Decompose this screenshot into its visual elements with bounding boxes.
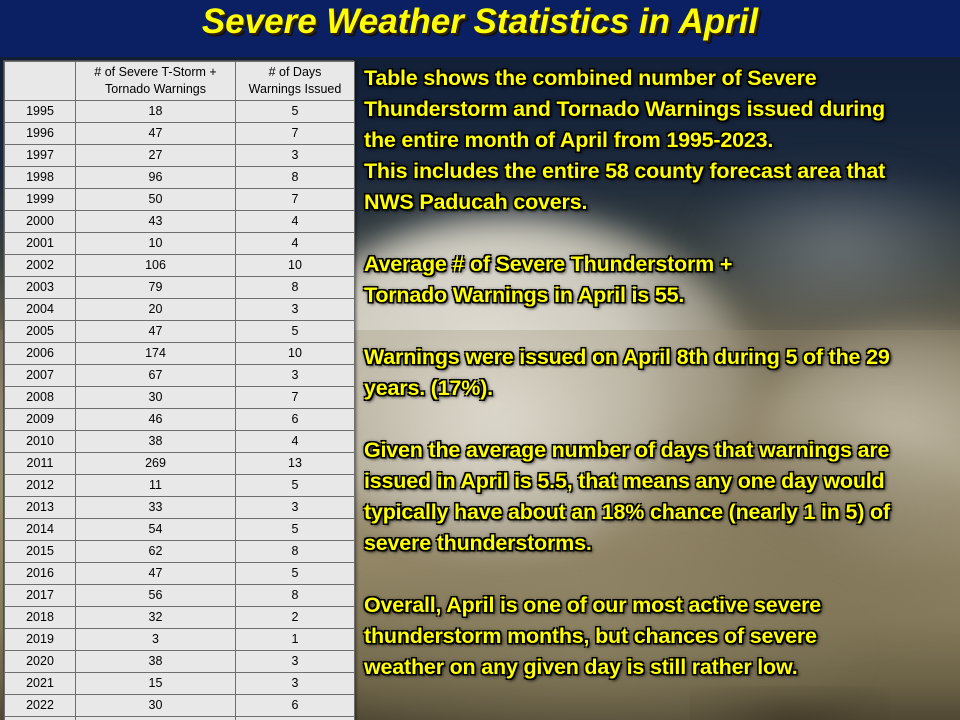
note-paragraph-1-line-1: Table shows the combined number of Sever… [364, 63, 958, 94]
cell-days-issued: 5 [236, 321, 355, 343]
table-row: 1999507 [5, 189, 355, 211]
severe-weather-statistics-table: # of Severe T-Storm + Tornado Warnings #… [4, 61, 355, 720]
cell-days-issued: 3 [236, 365, 355, 387]
cell-days-issued: 5 [236, 475, 355, 497]
cell-warnings-count: 67 [76, 365, 236, 387]
statistics-table-container: # of Severe T-Storm + Tornado Warnings #… [3, 60, 354, 720]
cell-warnings-count: 15 [76, 673, 236, 695]
note-paragraph-1-line-5: NWS Paducah covers. [364, 187, 958, 218]
cell-year: 2020 [5, 651, 76, 673]
cell-days-issued: 3 [236, 651, 355, 673]
header-warnings-line1: # of Severe T-Storm + [94, 65, 216, 79]
cell-year: 2014 [5, 519, 76, 541]
cell-year: 1995 [5, 101, 76, 123]
cell-days-issued: 8 [236, 277, 355, 299]
cell-days-issued: 3 [236, 497, 355, 519]
cell-days-issued: 10 [236, 255, 355, 277]
cell-warnings-count: 43 [76, 211, 236, 233]
cell-year: 2018 [5, 607, 76, 629]
page-title: Severe Weather Statistics in April [0, 2, 960, 42]
table-row: 2018322 [5, 607, 355, 629]
spacer-4 [364, 559, 958, 590]
cell-year: 2013 [5, 497, 76, 519]
cell-year: 2003 [5, 277, 76, 299]
cell-warnings-count: 10 [76, 233, 236, 255]
table-row: 1997273 [5, 145, 355, 167]
cell-year: 2012 [5, 475, 76, 497]
note-paragraph-1-line-4: This includes the entire 58 county forec… [364, 156, 958, 187]
cell-warnings-count: 79 [76, 277, 236, 299]
cell-warnings-count: 47 [76, 123, 236, 145]
table-header: # of Severe T-Storm + Tornado Warnings #… [5, 62, 355, 101]
table-row: 2005475 [5, 321, 355, 343]
cell-days-issued: 13 [236, 453, 355, 475]
cell-warnings-count: 20 [76, 299, 236, 321]
table-row: 2010384 [5, 431, 355, 453]
cell-year: 2011 [5, 453, 76, 475]
cell-days-issued: 7 [236, 387, 355, 409]
cell-days-issued: 3 [236, 299, 355, 321]
cell-year: 2001 [5, 233, 76, 255]
note-paragraph-3-line-2: years. (17%). [364, 373, 958, 404]
cell-warnings-count: 30 [76, 387, 236, 409]
notes-text-block: Table shows the combined number of Sever… [364, 63, 958, 683]
table-row: 201931 [5, 629, 355, 651]
cell-year: 2006 [5, 343, 76, 365]
cell-days-issued: 8 [236, 167, 355, 189]
table-row: 2020383 [5, 651, 355, 673]
table-row: 2014545 [5, 519, 355, 541]
cell-warnings-count: 269 [76, 453, 236, 475]
cell-year: 1998 [5, 167, 76, 189]
header-days-line2: Warnings Issued [249, 82, 342, 96]
cell-days-issued: 3 [236, 145, 355, 167]
cell-year: 2010 [5, 431, 76, 453]
cell-days-issued: 4 [236, 431, 355, 453]
table-row: 201126913 [5, 453, 355, 475]
table-row: 2023403 [5, 717, 355, 720]
cell-warnings-count: 106 [76, 255, 236, 277]
table-row: 2016475 [5, 563, 355, 585]
table-row: 2021153 [5, 673, 355, 695]
cell-year: 2021 [5, 673, 76, 695]
cell-warnings-count: 56 [76, 585, 236, 607]
cell-warnings-count: 40 [76, 717, 236, 720]
header-warnings-line2: Tornado Warnings [105, 82, 206, 96]
cell-days-issued: 1 [236, 629, 355, 651]
table-row: 2000434 [5, 211, 355, 233]
cell-warnings-count: 62 [76, 541, 236, 563]
cell-year: 2022 [5, 695, 76, 717]
cell-days-issued: 3 [236, 673, 355, 695]
spacer-3 [364, 404, 958, 435]
cell-year: 2019 [5, 629, 76, 651]
table-row: 2003798 [5, 277, 355, 299]
cell-days-issued: 5 [236, 519, 355, 541]
cell-days-issued: 6 [236, 409, 355, 431]
header-days-issued: # of Days Warnings Issued [236, 62, 355, 101]
table-row: 2017568 [5, 585, 355, 607]
cell-year: 2005 [5, 321, 76, 343]
cell-warnings-count: 96 [76, 167, 236, 189]
cell-year: 2016 [5, 563, 76, 585]
cell-days-issued: 4 [236, 211, 355, 233]
cell-warnings-count: 47 [76, 563, 236, 585]
note-paragraph-2-line-1: Average # of Severe Thunderstorm + [364, 249, 958, 280]
cell-days-issued: 4 [236, 233, 355, 255]
cell-warnings-count: 30 [76, 695, 236, 717]
note-paragraph-4-line-3: typically have about an 18% chance (near… [364, 497, 958, 528]
cell-warnings-count: 18 [76, 101, 236, 123]
cell-days-issued: 2 [236, 607, 355, 629]
cell-days-issued: 8 [236, 585, 355, 607]
table-row: 2015628 [5, 541, 355, 563]
note-paragraph-5-line-2: thunderstorm months, but chances of seve… [364, 621, 958, 652]
cell-year: 2000 [5, 211, 76, 233]
cell-year: 2017 [5, 585, 76, 607]
table-row: 200617410 [5, 343, 355, 365]
spacer-2 [364, 311, 958, 342]
note-paragraph-3-line-1: Warnings were issued on April 8th during… [364, 342, 958, 373]
spacer-1 [364, 218, 958, 249]
cell-warnings-count: 33 [76, 497, 236, 519]
table-row: 2022306 [5, 695, 355, 717]
cell-days-issued: 8 [236, 541, 355, 563]
table-row: 2004203 [5, 299, 355, 321]
cell-warnings-count: 46 [76, 409, 236, 431]
note-paragraph-2-line-2: Tornado Warnings in April is 55. [364, 280, 958, 311]
table-row: 1998968 [5, 167, 355, 189]
note-paragraph-4-line-1: Given the average number of days that wa… [364, 435, 958, 466]
table-row: 1995185 [5, 101, 355, 123]
cell-warnings-count: 3 [76, 629, 236, 651]
note-paragraph-5-line-3: weather on any given day is still rather… [364, 652, 958, 683]
cell-days-issued: 5 [236, 101, 355, 123]
cell-warnings-count: 47 [76, 321, 236, 343]
table-row: 2001104 [5, 233, 355, 255]
foreground-vegetation [690, 686, 890, 720]
cell-year: 1997 [5, 145, 76, 167]
cell-warnings-count: 38 [76, 651, 236, 673]
table-row: 2009466 [5, 409, 355, 431]
cell-year: 2008 [5, 387, 76, 409]
cell-year: 2023 [5, 717, 76, 720]
table-body: 1995185199647719972731998968199950720004… [5, 101, 355, 720]
cell-warnings-count: 32 [76, 607, 236, 629]
slide-root: Severe Weather Statistics in April # of … [0, 0, 960, 720]
cell-year: 2002 [5, 255, 76, 277]
cell-warnings-count: 27 [76, 145, 236, 167]
cell-year: 2004 [5, 299, 76, 321]
cell-warnings-count: 54 [76, 519, 236, 541]
cell-year: 2015 [5, 541, 76, 563]
cell-year: 1996 [5, 123, 76, 145]
cell-year: 2009 [5, 409, 76, 431]
cell-days-issued: 7 [236, 123, 355, 145]
cell-year: 1999 [5, 189, 76, 211]
cell-warnings-count: 11 [76, 475, 236, 497]
table-row: 1996477 [5, 123, 355, 145]
cell-days-issued: 5 [236, 563, 355, 585]
header-days-line1: # of Days [269, 65, 322, 79]
cell-warnings-count: 38 [76, 431, 236, 453]
table-row: 2007673 [5, 365, 355, 387]
table-row: 2008307 [5, 387, 355, 409]
cell-days-issued: 3 [236, 717, 355, 720]
table-row: 200210610 [5, 255, 355, 277]
note-paragraph-4-line-2: issued in April is 5.5, that means any o… [364, 466, 958, 497]
header-warnings-count: # of Severe T-Storm + Tornado Warnings [76, 62, 236, 101]
note-paragraph-1-line-2: Thunderstorm and Tornado Warnings issued… [364, 94, 958, 125]
note-paragraph-1-line-3: the entire month of April from 1995-2023… [364, 125, 958, 156]
note-paragraph-5-line-1: Overall, April is one of our most active… [364, 590, 958, 621]
cell-days-issued: 7 [236, 189, 355, 211]
table-row: 2012115 [5, 475, 355, 497]
header-corner-cell [5, 62, 76, 101]
cell-warnings-count: 174 [76, 343, 236, 365]
table-header-row: # of Severe T-Storm + Tornado Warnings #… [5, 62, 355, 101]
cell-year: 2007 [5, 365, 76, 387]
cell-days-issued: 10 [236, 343, 355, 365]
table-row: 2013333 [5, 497, 355, 519]
cell-warnings-count: 50 [76, 189, 236, 211]
note-paragraph-4-line-4: severe thunderstorms. [364, 528, 958, 559]
cell-days-issued: 6 [236, 695, 355, 717]
